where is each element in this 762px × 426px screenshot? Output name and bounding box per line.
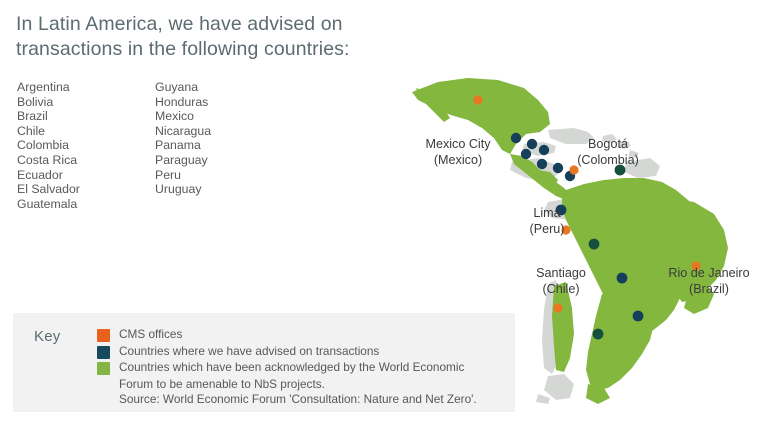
transaction-dot — [617, 273, 628, 284]
list-item: Honduras — [155, 95, 295, 110]
list-item: Paraguay — [155, 153, 295, 168]
legend-label: CMS offices — [119, 327, 182, 343]
list-item: Peru — [155, 168, 295, 183]
latin-america-map — [398, 58, 762, 408]
page-title-line-1: In Latin America, we have advised on — [16, 12, 446, 37]
list-item: El Salvador — [17, 182, 155, 197]
transaction-dot — [537, 159, 547, 169]
city-name: Lima — [533, 206, 560, 220]
list-item: Guyana — [155, 80, 295, 95]
list-item: Uruguay — [155, 182, 295, 197]
list-item: Colombia — [17, 138, 155, 153]
map-label-rio-de-janeiro: Rio de Janeiro (Brazil) — [660, 266, 758, 297]
list-item: Brazil — [17, 109, 155, 124]
office-dot-mexico-city — [473, 95, 482, 104]
legend-swatch-orange-icon — [97, 329, 110, 342]
map-label-bogota: Bogotá (Colombia) — [562, 137, 654, 168]
page-title: In Latin America, we have advised on tra… — [16, 12, 446, 62]
legend-swatch-green-icon — [97, 362, 110, 375]
city-country: (Colombia) — [562, 153, 654, 169]
city-country: (Chile) — [524, 282, 598, 298]
list-item: Guatemala — [17, 197, 155, 212]
list-item: Argentina — [17, 80, 155, 95]
list-item: Ecuador — [17, 168, 155, 183]
list-item: Panama — [155, 138, 295, 153]
transaction-dot — [633, 311, 644, 322]
office-dot-santiago — [553, 303, 562, 312]
city-name: Rio de Janeiro — [668, 266, 749, 280]
legend-title: Key — [34, 328, 60, 345]
list-item: Mexico — [155, 109, 295, 124]
city-name: Santiago — [536, 266, 586, 280]
city-name: Bogotá — [588, 137, 628, 151]
country-column-1: Argentina Bolivia Brazil Chile Colombia … — [17, 80, 155, 211]
transaction-dot — [539, 145, 549, 155]
transaction-dot — [527, 139, 537, 149]
map-svg — [398, 58, 762, 408]
list-item: Costa Rica — [17, 153, 155, 168]
list-item: Nicaragua — [155, 124, 295, 139]
city-country: (Brazil) — [660, 282, 758, 298]
list-item: Chile — [17, 124, 155, 139]
map-label-mexico-city: Mexico City (Mexico) — [412, 137, 504, 168]
transaction-dot — [511, 133, 521, 143]
slide-root: In Latin America, we have advised on tra… — [0, 0, 762, 426]
list-item: Bolivia — [17, 95, 155, 110]
transaction-dot — [589, 239, 600, 250]
city-name: Mexico City — [425, 137, 490, 151]
legend-swatch-teal-icon — [97, 346, 110, 359]
map-label-lima: Lima (Peru) — [516, 206, 578, 237]
page-title-line-2: transactions in the following countries: — [16, 37, 446, 62]
map-label-santiago: Santiago (Chile) — [524, 266, 598, 297]
legend-label: Countries where we have advised on trans… — [119, 344, 379, 360]
country-list: Argentina Bolivia Brazil Chile Colombia … — [17, 80, 295, 211]
map-landmass-green — [412, 78, 728, 404]
transaction-dot — [521, 149, 531, 159]
city-country: (Mexico) — [412, 153, 504, 169]
city-country: (Peru) — [516, 222, 578, 238]
transaction-dot — [593, 329, 604, 340]
country-column-2: Guyana Honduras Mexico Nicaragua Panama … — [155, 80, 295, 211]
